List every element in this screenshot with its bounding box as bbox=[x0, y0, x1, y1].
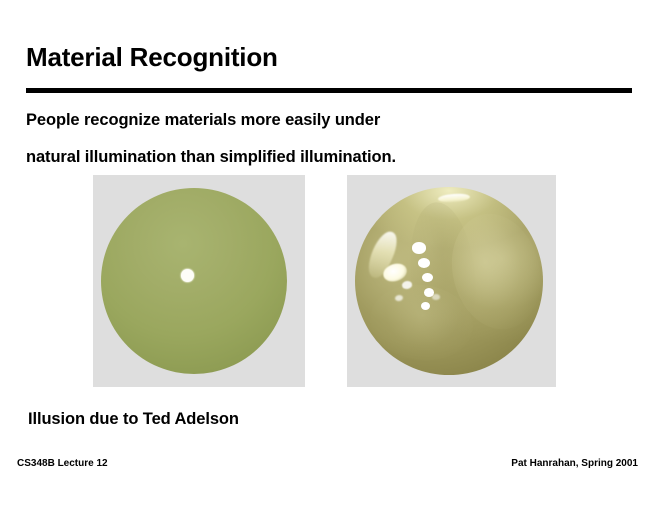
env-reflection-band-b bbox=[365, 278, 478, 367]
specular-highlight-streak-icon bbox=[363, 228, 402, 281]
window-reflection-5-icon bbox=[421, 302, 430, 310]
sphere-simplified-illumination bbox=[101, 188, 287, 374]
env-reflection-band-c bbox=[404, 199, 483, 352]
figure-panel-simplified-illumination bbox=[93, 175, 305, 387]
footer-course-label: CS348B Lecture 12 bbox=[17, 458, 108, 469]
specular-highlight-top-icon bbox=[437, 192, 469, 203]
slide: Material Recognition People recognize ma… bbox=[0, 0, 660, 510]
page-title: Material Recognition bbox=[26, 44, 278, 71]
body-text-line-2: natural illumination than simplified ill… bbox=[26, 148, 396, 167]
window-reflection-4-icon bbox=[424, 288, 434, 297]
sphere-natural-illumination bbox=[355, 187, 543, 375]
footer-author-label: Pat Hanrahan, Spring 2001 bbox=[511, 458, 638, 469]
specular-highlight-blob-icon bbox=[381, 261, 409, 285]
window-reflection-1-icon bbox=[412, 242, 426, 253]
figure-caption: Illusion due to Ted Adelson bbox=[28, 410, 239, 429]
figure-panel-natural-illumination bbox=[347, 175, 556, 387]
window-reflection-7-icon bbox=[395, 294, 404, 302]
title-divider bbox=[26, 88, 632, 93]
specular-highlight-icon bbox=[181, 269, 194, 282]
figure-row bbox=[0, 0, 660, 510]
env-reflection-band-a bbox=[440, 205, 543, 339]
body-text-line-1: People recognize materials more easily u… bbox=[26, 111, 380, 130]
window-reflection-6-icon bbox=[401, 280, 412, 289]
window-reflection-8-icon bbox=[432, 294, 440, 300]
window-reflection-2-icon bbox=[418, 258, 430, 268]
window-reflection-3-icon bbox=[422, 273, 433, 283]
